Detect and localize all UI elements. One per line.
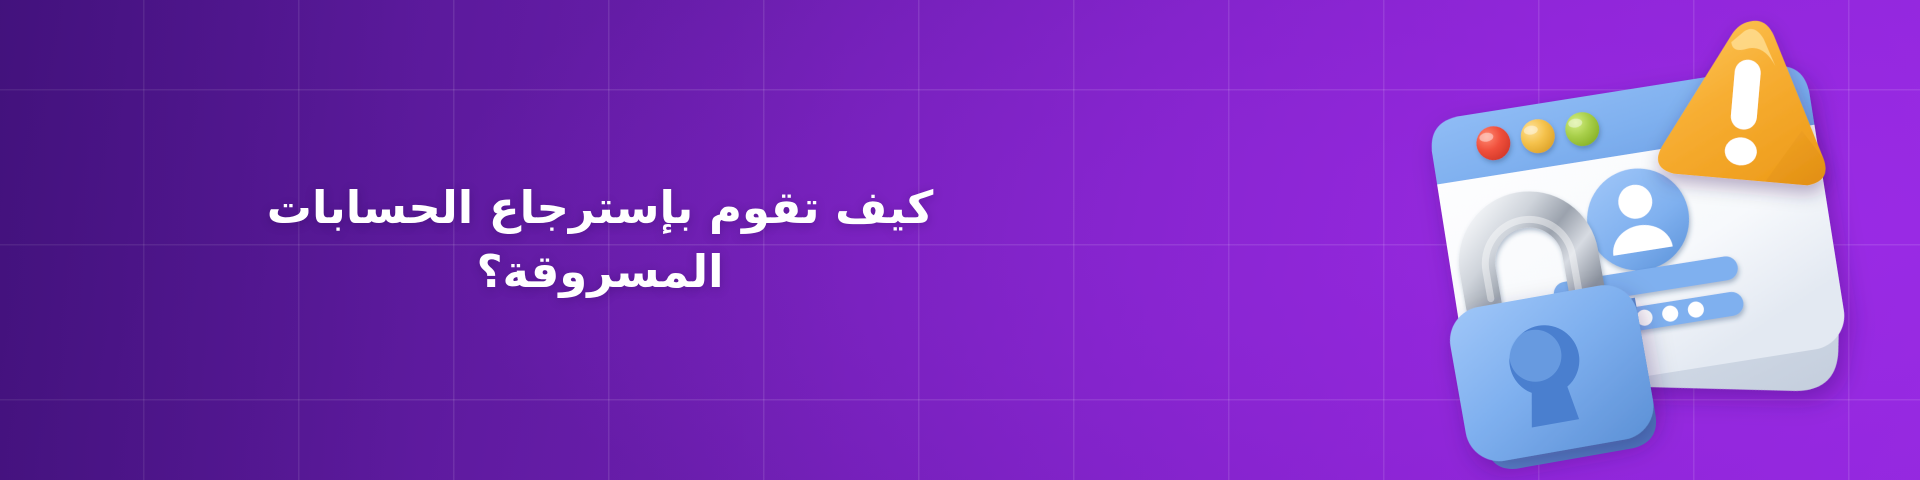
headline-line-1: كيف تقوم بإسترجاع الحسابات <box>267 176 934 240</box>
headline-line-2: المسروقة؟ <box>476 240 723 304</box>
promo-banner: كيف تقوم بإسترجاع الحسابات المسروقة؟ <box>0 0 1920 480</box>
stolen-account-security-illustration <box>1400 0 1920 480</box>
headline-block: كيف تقوم بإسترجاع الحسابات المسروقة؟ <box>150 0 1050 480</box>
